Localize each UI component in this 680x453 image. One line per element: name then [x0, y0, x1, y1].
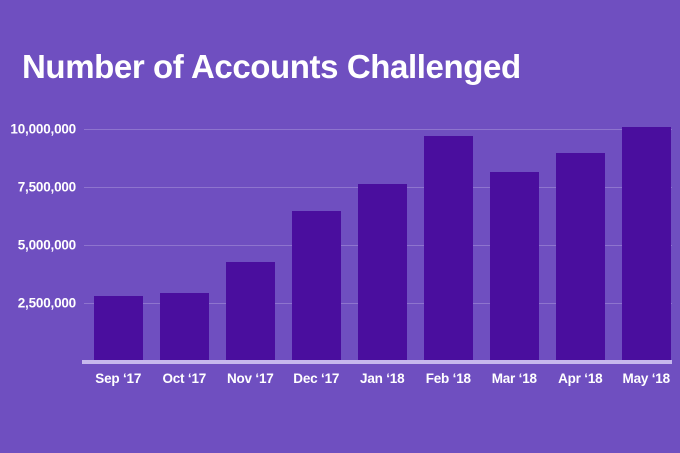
bar	[424, 136, 474, 360]
bar	[94, 296, 144, 360]
bar	[292, 211, 342, 360]
bar	[556, 153, 606, 360]
bar	[358, 184, 408, 360]
bars-layer	[0, 0, 680, 360]
x-axis-tick-label: May ‘18	[606, 371, 680, 386]
bar	[226, 262, 276, 360]
x-axis-baseline	[82, 360, 672, 364]
bar	[160, 293, 210, 360]
bar	[622, 127, 672, 360]
bar-chart: Number of Accounts Challenged 2,500,0005…	[0, 0, 680, 453]
bar	[490, 172, 540, 360]
